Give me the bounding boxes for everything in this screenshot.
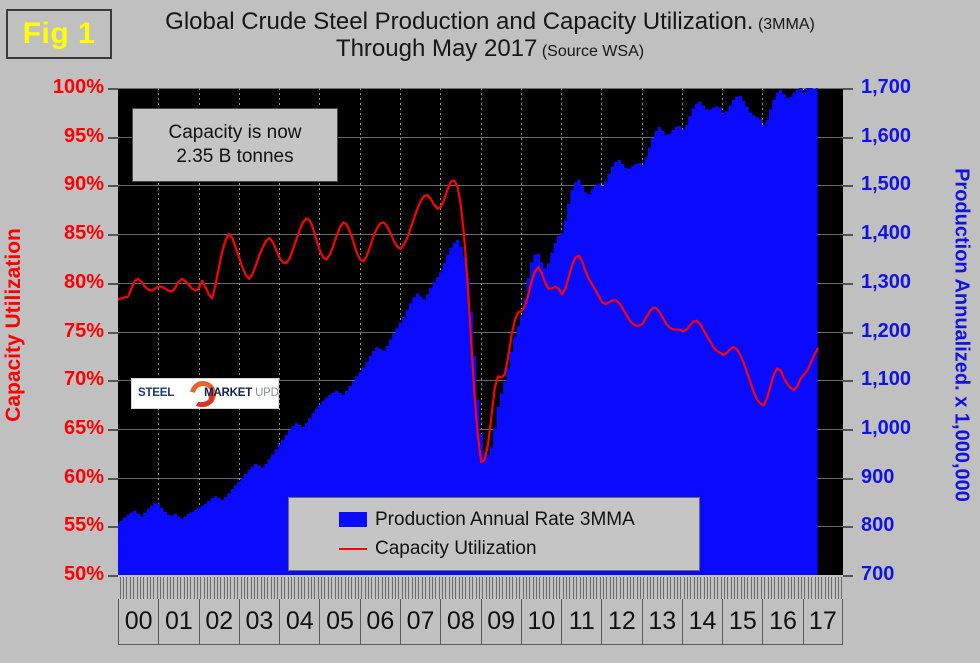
- right-axis-tick-label: 800: [861, 515, 894, 535]
- x-axis-minor-ticks: [118, 577, 843, 599]
- left-axis-tick-mark: [108, 526, 118, 528]
- x-axis-minor-tick: [717, 577, 718, 599]
- x-axis-minor-tick: [190, 577, 191, 599]
- x-axis-minor-tick: [804, 577, 805, 599]
- x-axis-minor-tick: [680, 577, 681, 599]
- x-axis-minor-tick: [499, 577, 500, 599]
- left-axis-tick-mark: [108, 429, 118, 431]
- x-axis-minor-tick: [257, 577, 258, 599]
- right-axis-tick-label: 700: [861, 564, 894, 584]
- x-axis-minor-tick: [553, 577, 554, 599]
- x-axis-minor-tick: [395, 577, 396, 599]
- x-axis-minor-tick: [627, 577, 628, 599]
- x-axis-minor-tick: [653, 577, 654, 599]
- x-axis-minor-tick: [482, 577, 483, 599]
- x-axis-minor-tick: [304, 577, 305, 599]
- x-axis-minor-tick: [496, 577, 497, 599]
- right-axis-tick-mark: [843, 234, 853, 236]
- left-axis-tick-label: 90%: [64, 174, 104, 194]
- x-axis-minor-tick: [687, 577, 688, 599]
- x-axis-minor-tick: [147, 577, 148, 599]
- x-axis-minor-tick: [549, 577, 550, 599]
- x-axis-minor-tick: [254, 577, 255, 599]
- x-axis-minor-tick: [284, 577, 285, 599]
- x-axis-year-label: 07: [400, 599, 440, 644]
- x-axis-year-label: 11: [561, 599, 601, 644]
- x-axis-minor-tick: [476, 577, 477, 599]
- x-axis-minor-tick: [637, 577, 638, 599]
- x-axis-minor-tick: [744, 577, 745, 599]
- x-axis-minor-tick: [462, 577, 463, 599]
- x-axis-minor-tick: [700, 577, 701, 599]
- x-axis-minor-tick: [435, 577, 436, 599]
- x-axis-minor-tick: [569, 577, 570, 599]
- x-axis-minor-tick: [324, 577, 325, 599]
- x-axis-minor-tick: [677, 577, 678, 599]
- x-axis-minor-tick: [167, 577, 168, 599]
- x-axis-minor-tick: [439, 577, 440, 599]
- x-axis-year-label: 13: [642, 599, 682, 644]
- x-axis-minor-tick: [798, 577, 799, 599]
- x-axis-minor-tick: [294, 577, 295, 599]
- x-axis-year-label: 05: [319, 599, 359, 644]
- x-axis-minor-tick: [314, 577, 315, 599]
- x-axis-minor-tick: [694, 577, 695, 599]
- x-axis-minor-tick: [123, 577, 124, 599]
- x-axis-minor-tick: [224, 577, 225, 599]
- x-axis-minor-tick: [247, 577, 248, 599]
- x-axis-year-label: 12: [601, 599, 641, 644]
- x-axis-minor-tick: [331, 577, 332, 599]
- x-axis-minor-tick: [133, 577, 134, 599]
- left-axis-tick-mark: [108, 332, 118, 334]
- x-axis-year-label: 04: [279, 599, 319, 644]
- x-axis-minor-tick: [143, 577, 144, 599]
- left-axis-tick-label: 65%: [64, 418, 104, 438]
- x-axis-minor-tick: [194, 577, 195, 599]
- x-axis-minor-tick: [291, 577, 292, 599]
- x-axis-minor-tick: [455, 577, 456, 599]
- x-axis-minor-tick: [747, 577, 748, 599]
- x-axis-minor-tick: [526, 577, 527, 599]
- x-axis-minor-tick: [633, 577, 634, 599]
- x-axis-minor-tick: [714, 577, 715, 599]
- x-axis-minor-tick: [667, 577, 668, 599]
- x-axis-minor-tick: [704, 577, 705, 599]
- right-axis-tick-label: 1,600: [861, 126, 911, 146]
- x-axis-minor-tick: [533, 577, 534, 599]
- x-axis-minor-tick: [365, 577, 366, 599]
- x-axis-minor-tick: [761, 577, 762, 599]
- x-axis-minor-tick: [660, 577, 661, 599]
- x-axis-minor-tick: [415, 577, 416, 599]
- x-axis-year-labels: 000102030405060708091011121314151617: [118, 599, 843, 645]
- x-axis-minor-tick: [388, 577, 389, 599]
- x-axis-minor-tick: [197, 577, 198, 599]
- right-axis-tick-mark: [843, 380, 853, 382]
- x-axis-minor-tick: [596, 577, 597, 599]
- x-axis-minor-tick: [301, 577, 302, 599]
- x-axis-minor-tick: [593, 577, 594, 599]
- x-axis-minor-tick: [465, 577, 466, 599]
- x-axis-minor-tick: [308, 577, 309, 599]
- x-axis-minor-tick: [788, 577, 789, 599]
- right-axis-tick-mark: [843, 575, 853, 577]
- x-axis-minor-tick: [751, 577, 752, 599]
- x-axis-minor-tick: [516, 577, 517, 599]
- chart-title-line1: Global Crude Steel Production and Capaci…: [120, 8, 860, 35]
- x-axis-minor-tick: [234, 577, 235, 599]
- logo-word-update: UPDATE: [255, 387, 279, 399]
- x-axis-minor-tick: [825, 577, 826, 599]
- x-axis-year-label: 14: [682, 599, 722, 644]
- chart-title-line1-main: Global Crude Steel Production and Capaci…: [165, 8, 753, 35]
- x-axis-minor-tick: [640, 577, 641, 599]
- x-axis-minor-tick: [170, 577, 171, 599]
- x-axis-minor-tick: [603, 577, 604, 599]
- left-axis-tick-label: 50%: [64, 564, 104, 584]
- x-axis-minor-tick: [120, 577, 121, 599]
- x-axis-minor-tick: [207, 577, 208, 599]
- x-axis-minor-tick: [734, 577, 735, 599]
- x-axis-minor-tick: [378, 577, 379, 599]
- x-axis-minor-tick: [818, 577, 819, 599]
- left-axis-tick-label: 80%: [64, 272, 104, 292]
- right-axis-tick-label: 1,500: [861, 174, 911, 194]
- x-axis-minor-tick: [509, 577, 510, 599]
- x-axis-minor-tick: [348, 577, 349, 599]
- x-axis-minor-tick: [741, 577, 742, 599]
- x-axis-minor-tick: [288, 577, 289, 599]
- x-axis-minor-tick: [590, 577, 591, 599]
- x-axis-minor-tick: [801, 577, 802, 599]
- x-axis-minor-tick: [311, 577, 312, 599]
- x-axis-minor-tick: [523, 577, 524, 599]
- right-axis-title: Production Annualized. x 1,000,000: [946, 105, 976, 565]
- x-axis-minor-tick: [442, 577, 443, 599]
- logo-word-market: MARKET: [204, 387, 252, 399]
- x-axis-minor-tick: [140, 577, 141, 599]
- x-axis-minor-tick: [214, 577, 215, 599]
- x-axis-minor-tick: [137, 577, 138, 599]
- x-axis-minor-tick: [264, 577, 265, 599]
- x-axis-minor-tick: [210, 577, 211, 599]
- x-axis-minor-tick: [757, 577, 758, 599]
- left-axis-tick-label: 55%: [64, 515, 104, 535]
- x-axis-minor-tick: [841, 577, 842, 599]
- x-axis-minor-tick: [271, 577, 272, 599]
- x-axis-minor-tick: [583, 577, 584, 599]
- x-axis-minor-tick: [392, 577, 393, 599]
- x-axis-minor-tick: [452, 577, 453, 599]
- x-axis-year-label: 10: [521, 599, 561, 644]
- x-axis-minor-tick: [274, 577, 275, 599]
- right-axis-tick-mark: [843, 429, 853, 431]
- x-axis-minor-tick: [573, 577, 574, 599]
- x-axis-minor-tick: [371, 577, 372, 599]
- chart-legend: Production Annual Rate 3MMA Capacity Uti…: [288, 497, 700, 571]
- x-axis-minor-tick: [177, 577, 178, 599]
- x-axis-minor-tick: [479, 577, 480, 599]
- x-axis-minor-tick: [768, 577, 769, 599]
- x-axis-minor-tick: [690, 577, 691, 599]
- x-axis-year-label: 06: [360, 599, 400, 644]
- x-axis-minor-tick: [835, 577, 836, 599]
- right-axis-tick-mark: [843, 526, 853, 528]
- x-axis-minor-tick: [600, 577, 601, 599]
- x-axis-minor-tick: [684, 577, 685, 599]
- right-axis-tick-mark: [843, 478, 853, 480]
- x-axis-minor-tick: [153, 577, 154, 599]
- x-axis-minor-tick: [529, 577, 530, 599]
- left-axis-tick-mark: [108, 137, 118, 139]
- x-axis-minor-tick: [341, 577, 342, 599]
- x-axis-minor-tick: [281, 577, 282, 599]
- x-axis-minor-tick: [472, 577, 473, 599]
- x-axis-minor-tick: [606, 577, 607, 599]
- x-axis-minor-tick: [563, 577, 564, 599]
- legend-swatch-capacity-icon: [339, 548, 367, 550]
- x-axis-minor-tick: [382, 577, 383, 599]
- x-axis-minor-tick: [731, 577, 732, 599]
- x-axis-minor-tick: [623, 577, 624, 599]
- left-axis-tick-mark: [108, 380, 118, 382]
- x-axis-minor-tick: [486, 577, 487, 599]
- x-axis-minor-tick: [811, 577, 812, 599]
- x-axis-minor-tick: [173, 577, 174, 599]
- x-axis-minor-tick: [408, 577, 409, 599]
- x-axis-minor-tick: [267, 577, 268, 599]
- x-axis-minor-tick: [469, 577, 470, 599]
- x-axis-minor-tick: [710, 577, 711, 599]
- x-axis-minor-tick: [425, 577, 426, 599]
- x-axis-minor-tick: [217, 577, 218, 599]
- x-axis-minor-tick: [150, 577, 151, 599]
- x-axis-minor-tick: [180, 577, 181, 599]
- x-axis-minor-tick: [674, 577, 675, 599]
- steel-market-update-logo: STEELMARKET UPDATE: [131, 378, 279, 409]
- x-axis-minor-tick: [184, 577, 185, 599]
- legend-label-production: Production Annual Rate 3MMA: [375, 509, 635, 531]
- x-axis-minor-tick: [721, 577, 722, 599]
- x-axis-minor-tick: [338, 577, 339, 599]
- x-axis-minor-tick: [405, 577, 406, 599]
- x-axis-minor-tick: [200, 577, 201, 599]
- legend-item-capacity: Capacity Utilization: [339, 534, 699, 563]
- x-axis-minor-tick: [130, 577, 131, 599]
- x-axis-year-label: 09: [481, 599, 521, 644]
- left-axis-tick-mark: [108, 234, 118, 236]
- x-axis-minor-tick: [771, 577, 772, 599]
- x-axis-minor-tick: [506, 577, 507, 599]
- x-axis-minor-tick: [613, 577, 614, 599]
- left-axis-title: Capacity Utilization: [0, 110, 28, 540]
- x-axis-minor-tick: [335, 577, 336, 599]
- x-axis-minor-tick: [345, 577, 346, 599]
- x-axis-minor-tick: [576, 577, 577, 599]
- x-axis-minor-tick: [727, 577, 728, 599]
- x-axis-minor-tick: [351, 577, 352, 599]
- right-axis-tick-mark: [843, 332, 853, 334]
- x-axis-minor-tick: [358, 577, 359, 599]
- legend-label-capacity: Capacity Utilization: [375, 538, 537, 560]
- x-axis-year-label: 08: [440, 599, 480, 644]
- x-axis-year-label: 02: [199, 599, 239, 644]
- x-axis-minor-tick: [204, 577, 205, 599]
- x-axis-minor-tick: [502, 577, 503, 599]
- x-axis-minor-tick: [630, 577, 631, 599]
- x-axis-minor-tick: [126, 577, 127, 599]
- x-axis-year-label: 16: [762, 599, 802, 644]
- capacity-annotation: Capacity is now 2.35 B tonnes: [132, 108, 338, 182]
- x-axis-minor-tick: [459, 577, 460, 599]
- x-axis-minor-tick: [328, 577, 329, 599]
- x-axis-minor-tick: [546, 577, 547, 599]
- x-axis-minor-tick: [828, 577, 829, 599]
- right-axis-tick-mark: [843, 283, 853, 285]
- logo-word-steel: STEEL: [138, 387, 174, 399]
- x-axis-minor-tick: [432, 577, 433, 599]
- x-axis-minor-tick: [754, 577, 755, 599]
- x-axis-minor-tick: [556, 577, 557, 599]
- x-axis-minor-tick: [422, 577, 423, 599]
- x-axis-minor-tick: [838, 577, 839, 599]
- x-axis-minor-tick: [412, 577, 413, 599]
- x-axis-minor-tick: [580, 577, 581, 599]
- right-axis-tick-label: 1,200: [861, 321, 911, 341]
- figure-badge-label: Fig 1: [23, 19, 96, 49]
- left-axis-tick-mark: [108, 575, 118, 577]
- right-axis-tick-label: 900: [861, 467, 894, 487]
- x-axis-year-label: 03: [239, 599, 279, 644]
- x-axis-minor-tick: [157, 577, 158, 599]
- chart-page: Fig 1 Global Crude Steel Production and …: [0, 0, 980, 663]
- x-axis-minor-tick: [402, 577, 403, 599]
- x-axis-minor-tick: [277, 577, 278, 599]
- x-axis-minor-tick: [398, 577, 399, 599]
- left-axis-title-text: Capacity Utilization: [2, 228, 26, 422]
- left-axis-tick-mark: [108, 88, 118, 90]
- x-axis-minor-tick: [794, 577, 795, 599]
- x-axis-minor-tick: [764, 577, 765, 599]
- x-axis-minor-tick: [445, 577, 446, 599]
- capacity-annotation-line1: Capacity is now: [168, 121, 301, 145]
- x-axis-minor-tick: [620, 577, 621, 599]
- right-axis-tick-mark: [843, 137, 853, 139]
- x-axis-minor-tick: [261, 577, 262, 599]
- right-axis-tick-mark: [843, 185, 853, 187]
- x-axis-minor-tick: [321, 577, 322, 599]
- x-axis-minor-tick: [791, 577, 792, 599]
- left-axis-tick-label: 100%: [53, 77, 104, 97]
- left-axis-tick-mark: [108, 283, 118, 285]
- x-axis-minor-tick: [647, 577, 648, 599]
- x-axis-minor-tick: [163, 577, 164, 599]
- x-axis-year-label: 00: [118, 599, 158, 644]
- x-axis-minor-tick: [227, 577, 228, 599]
- x-axis-minor-tick: [385, 577, 386, 599]
- x-axis-year-label: 01: [158, 599, 198, 644]
- x-axis-minor-tick: [355, 577, 356, 599]
- x-axis-minor-tick: [237, 577, 238, 599]
- x-axis-minor-tick: [543, 577, 544, 599]
- right-axis-tick-label: 1,300: [861, 272, 911, 292]
- x-axis-minor-tick: [539, 577, 540, 599]
- x-axis-minor-tick: [361, 577, 362, 599]
- x-axis-minor-tick: [610, 577, 611, 599]
- x-axis-minor-tick: [449, 577, 450, 599]
- x-axis-minor-tick: [160, 577, 161, 599]
- x-axis-minor-tick: [251, 577, 252, 599]
- left-axis-tick-label: 85%: [64, 223, 104, 243]
- chart-title-line2-main: Through May 2017: [336, 35, 537, 62]
- x-axis-minor-tick: [586, 577, 587, 599]
- chart-title-line1-sub: (3MMA): [758, 16, 815, 33]
- legend-item-production: Production Annual Rate 3MMA: [339, 505, 699, 534]
- x-axis-minor-tick: [519, 577, 520, 599]
- capacity-annotation-line2: 2.35 B tonnes: [176, 145, 293, 169]
- x-axis-minor-tick: [318, 577, 319, 599]
- x-axis-minor-tick: [536, 577, 537, 599]
- x-axis-minor-tick: [616, 577, 617, 599]
- x-axis-minor-tick: [808, 577, 809, 599]
- logo-wordmark: STEELMARKET UPDATE: [138, 387, 279, 399]
- x-axis-minor-tick: [298, 577, 299, 599]
- left-axis-tick-mark: [108, 478, 118, 480]
- x-axis-minor-tick: [650, 577, 651, 599]
- legend-swatch-production-icon: [339, 512, 367, 527]
- x-axis-minor-tick: [657, 577, 658, 599]
- x-axis-minor-tick: [559, 577, 560, 599]
- right-axis-tick-label: 1,000: [861, 418, 911, 438]
- left-axis-tick-label: 60%: [64, 467, 104, 487]
- x-axis-minor-tick: [707, 577, 708, 599]
- x-axis-minor-tick: [784, 577, 785, 599]
- x-axis-minor-tick: [821, 577, 822, 599]
- left-axis-tick-label: 70%: [64, 369, 104, 389]
- x-axis-year-label: 15: [722, 599, 762, 644]
- x-axis-minor-tick: [418, 577, 419, 599]
- x-axis-minor-tick: [244, 577, 245, 599]
- right-axis-tick-mark: [843, 88, 853, 90]
- x-axis-minor-tick: [429, 577, 430, 599]
- left-axis-tick-mark: [108, 185, 118, 187]
- right-axis-title-text: Production Annualized. x 1,000,000: [950, 168, 973, 502]
- x-axis-minor-tick: [220, 577, 221, 599]
- right-axis-tick-label: 1,700: [861, 77, 911, 97]
- x-axis-minor-tick: [643, 577, 644, 599]
- x-axis-minor-tick: [670, 577, 671, 599]
- x-axis-minor-tick: [831, 577, 832, 599]
- x-axis-minor-tick: [368, 577, 369, 599]
- x-axis-minor-tick: [492, 577, 493, 599]
- x-axis-minor-tick: [663, 577, 664, 599]
- x-axis-minor-tick: [697, 577, 698, 599]
- x-axis-minor-tick: [781, 577, 782, 599]
- x-axis-minor-tick: [815, 577, 816, 599]
- right-axis-tick-label: 1,100: [861, 369, 911, 389]
- right-axis-tick-label: 1,400: [861, 223, 911, 243]
- x-axis-minor-tick: [187, 577, 188, 599]
- chart-title-line2-sub: (Source WSA): [542, 43, 644, 60]
- x-axis-minor-tick: [241, 577, 242, 599]
- chart-title: Global Crude Steel Production and Capaci…: [120, 8, 860, 63]
- x-axis-minor-tick: [566, 577, 567, 599]
- x-axis-minor-tick: [230, 577, 231, 599]
- x-axis-minor-tick: [512, 577, 513, 599]
- figure-badge: Fig 1: [6, 9, 112, 59]
- x-axis-minor-tick: [489, 577, 490, 599]
